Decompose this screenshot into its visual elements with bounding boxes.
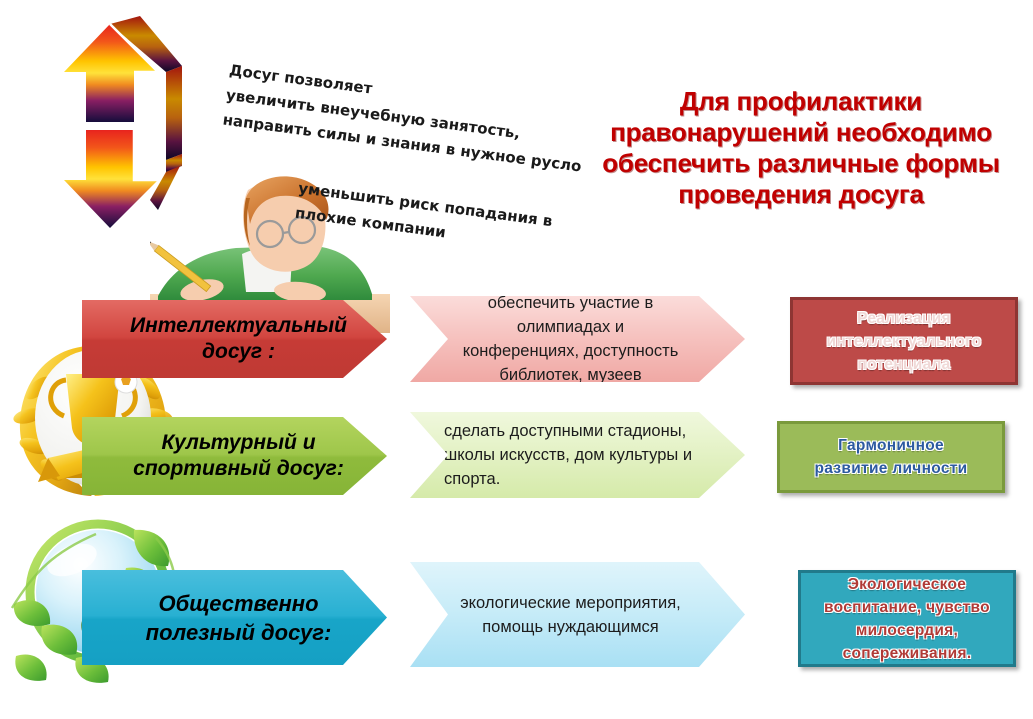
note-leisure-allows: Досуг позволяет увеличить внеучебную зан… xyxy=(221,58,589,180)
description-text: обеспечить участие в олимпиадах и конфер… xyxy=(410,291,745,387)
description-text: экологические мероприятия, помощь нуждаю… xyxy=(410,591,745,639)
category-label: Общественно полезный досуг: xyxy=(112,589,358,647)
outcome-text: Реализация интеллектуального потенциала xyxy=(826,307,981,376)
category-label: Интеллектуальный досуг : xyxy=(96,313,373,365)
category-chevron-social-useful[interactable]: Общественно полезный досуг: xyxy=(82,570,387,665)
outcome-box-social-useful[interactable]: Экологическое воспитание, чувство милосе… xyxy=(798,570,1016,667)
outcome-text: Гармоничное развитие личности xyxy=(815,434,968,480)
description-chevron-intellectual[interactable]: обеспечить участие в олимпиадах и конфер… xyxy=(410,296,745,382)
slide-canvas: Для профилактики правонарушений необходи… xyxy=(0,0,1033,719)
description-chevron-social-useful[interactable]: экологические мероприятия, помощь нуждаю… xyxy=(410,562,745,667)
category-chevron-intellectual[interactable]: Интеллектуальный досуг : xyxy=(82,300,387,378)
category-label: Культурный и спортивный досуг: xyxy=(99,430,370,482)
description-text: сделать доступными стадионы, школы искус… xyxy=(410,419,745,491)
page-title: Для профилактики правонарушений необходи… xyxy=(575,86,1027,210)
outcome-box-intellectual[interactable]: Реализация интеллектуального потенциала xyxy=(790,297,1018,385)
outcome-text: Экологическое воспитание, чувство милосе… xyxy=(824,573,990,665)
outcome-box-cultural-sport[interactable]: Гармоничное развитие личности xyxy=(777,421,1005,493)
description-chevron-cultural-sport[interactable]: сделать доступными стадионы, школы искус… xyxy=(410,412,745,498)
category-chevron-cultural-sport[interactable]: Культурный и спортивный досуг: xyxy=(82,417,387,495)
